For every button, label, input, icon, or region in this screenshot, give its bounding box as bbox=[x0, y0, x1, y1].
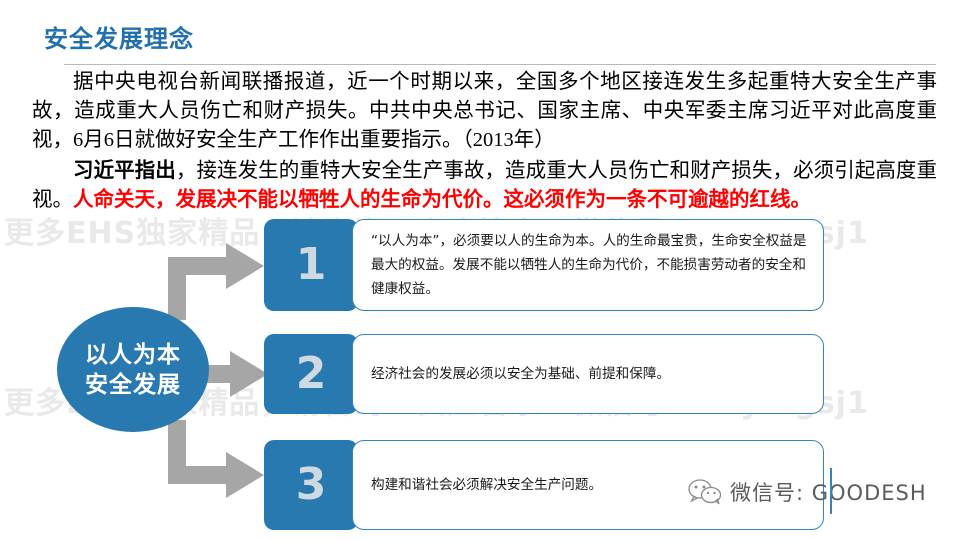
paragraph-2-run-1: 习近平指出 bbox=[73, 160, 176, 182]
item-number: 3 bbox=[296, 463, 327, 507]
center-circle-line-1: 以人为本 bbox=[85, 340, 181, 370]
slide-canvas: 更多EHS独家精品，请咨询 “安应管家” 微信号：anyingsj1 更多EHS… bbox=[0, 0, 960, 540]
page-title: 安全发展理念 bbox=[44, 19, 194, 54]
wechat-footer: 微信号: GOODESH bbox=[688, 477, 927, 507]
list-item: 1 “以人为本”，必须要以人的生命为本。人的生命最宝贵，生命安全权益是最大的权益… bbox=[264, 219, 824, 311]
paragraph-1-run-1: 据中央电视台新闻联播报道，近一个时期以来，全国多个地区接连发生多起重特大安全生产… bbox=[32, 71, 937, 151]
item-text-box: 经济社会的发展必须以安全为基础、前提和保障。 bbox=[352, 334, 824, 414]
item-number-badge: 1 bbox=[264, 219, 358, 311]
title-divider bbox=[64, 64, 936, 65]
item-number-badge: 2 bbox=[264, 334, 358, 414]
center-circle-line-2: 安全发展 bbox=[85, 370, 181, 400]
center-circle: 以人为本 安全发展 bbox=[57, 307, 209, 432]
item-number: 1 bbox=[296, 243, 327, 287]
arrow-up-right-icon bbox=[168, 243, 264, 320]
list-item: 2 经济社会的发展必须以安全为基础、前提和保障。 bbox=[264, 334, 824, 414]
paragraph-2-run-3-highlight: 人命关天，发展决不能以牺牲人的生命为代价。这必须作为一条不可逾越的红线。 bbox=[73, 189, 811, 211]
arrow-down-right-icon bbox=[168, 420, 264, 498]
item-text-box: “以人为本”，必须要以人的生命为本。人的生命最宝贵，生命安全权益是最大的权益。发… bbox=[352, 219, 824, 311]
wechat-id-label: 微信号: GOODESH bbox=[730, 477, 927, 507]
body-copy: 据中央电视台新闻联播报道，近一个时期以来，全国多个地区接连发生多起重特大安全生产… bbox=[32, 68, 937, 215]
item-number: 2 bbox=[296, 352, 327, 396]
item-text: 构建和谐社会必须解决安全生产问题。 bbox=[371, 473, 602, 497]
paragraph-2: 习近平指出，接连发生的重特大安全生产事故，造成重大人员伤亡和财产损失，必须引起高… bbox=[32, 157, 937, 215]
item-text: 经济社会的发展必须以安全为基础、前提和保障。 bbox=[371, 362, 670, 386]
text-cursor bbox=[830, 468, 832, 514]
paragraph-1: 据中央电视台新闻联播报道，近一个时期以来，全国多个地区接连发生多起重特大安全生产… bbox=[32, 68, 937, 155]
item-number-badge: 3 bbox=[264, 440, 358, 530]
wechat-icon bbox=[688, 479, 722, 505]
item-text: “以人为本”，必须要以人的生命为本。人的生命最宝贵，生命安全权益是最大的权益。发… bbox=[371, 229, 809, 301]
